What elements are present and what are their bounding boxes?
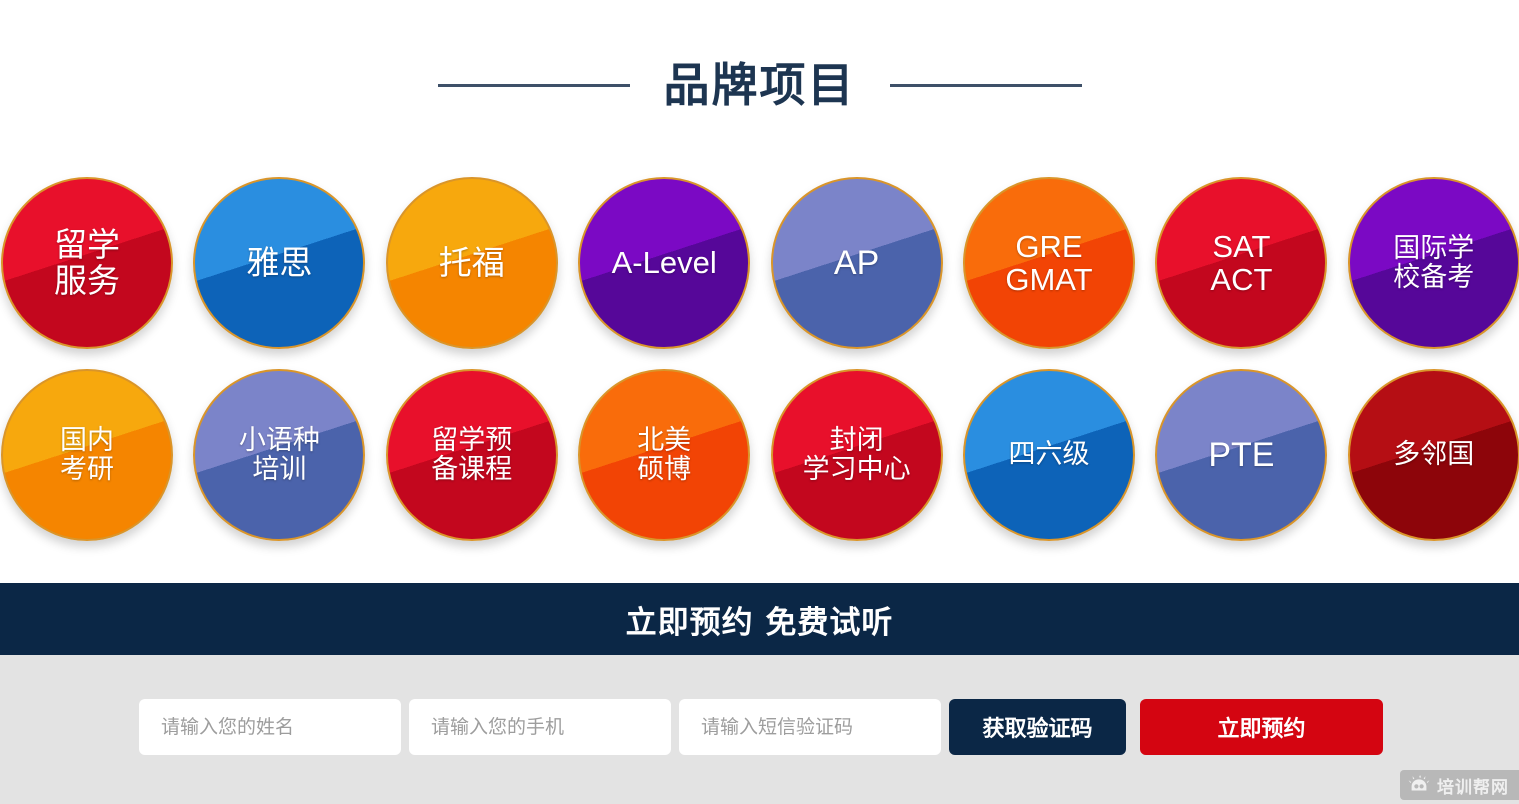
program-bubble[interactable]: 托福 xyxy=(386,177,558,349)
page-title-block: 品牌项目 xyxy=(0,62,1519,108)
program-bubble[interactable]: 留学预 备课程 xyxy=(386,369,558,541)
program-bubble[interactable]: 北美 硕博 xyxy=(578,369,750,541)
cta-banner-text: 立即预约 免费试听 xyxy=(626,597,894,642)
program-bubble[interactable]: 雅思 xyxy=(193,177,365,349)
program-bubble-label: AP xyxy=(826,245,887,282)
program-bubble-label: 留学 服务 xyxy=(46,227,128,298)
get-code-button[interactable]: 获取验证码 xyxy=(949,699,1126,755)
program-bubble-label: PTE xyxy=(1200,437,1282,474)
program-bubble[interactable]: SAT ACT xyxy=(1155,177,1327,349)
program-bubble-label: 国际学 校备考 xyxy=(1385,234,1482,292)
sun-face-icon xyxy=(1408,775,1430,795)
program-bubble-label: 小语种 培训 xyxy=(231,426,328,484)
program-row-2: 国内 考研小语种 培训留学预 备课程北美 硕博封闭 学习中心四六级PTE多邻国 xyxy=(0,369,1519,561)
program-bubble[interactable]: 封闭 学习中心 xyxy=(771,369,943,541)
program-bubble-label: 国内 考研 xyxy=(52,426,122,484)
program-bubble[interactable]: PTE xyxy=(1155,369,1327,541)
program-bubble-label: 雅思 xyxy=(238,245,320,281)
program-row-1: 留学 服务雅思托福A-LevelAPGRE GMATSAT ACT国际学 校备考 xyxy=(0,177,1519,369)
booking-form-section: 获取验证码 立即预约 xyxy=(0,655,1519,804)
program-bubble[interactable]: 四六级 xyxy=(963,369,1135,541)
program-bubble-label: 四六级 xyxy=(1001,440,1098,469)
program-bubble-label: 留学预 备课程 xyxy=(423,426,520,484)
program-bubble[interactable]: A-Level xyxy=(578,177,750,349)
booking-form: 获取验证码 立即预约 xyxy=(139,699,1383,755)
title-rule-left xyxy=(438,84,630,87)
program-bubble[interactable]: 国际学 校备考 xyxy=(1348,177,1519,349)
watermark-label: 培训帮网 xyxy=(1437,773,1509,798)
program-bubble-label: 多邻国 xyxy=(1385,440,1482,469)
program-bubble[interactable]: AP xyxy=(771,177,943,349)
program-bubble-label: 北美 硕博 xyxy=(629,426,699,484)
brand-programs-page: 品牌项目 留学 服务雅思托福A-LevelAPGRE GMATSAT ACT国际… xyxy=(0,0,1519,804)
program-bubble[interactable]: 多邻国 xyxy=(1348,369,1519,541)
title-rule-right xyxy=(890,84,1082,87)
program-bubble[interactable]: 留学 服务 xyxy=(1,177,173,349)
program-bubble[interactable]: 小语种 培训 xyxy=(193,369,365,541)
program-bubble-label: GRE GMAT xyxy=(997,230,1100,297)
program-grid: 留学 服务雅思托福A-LevelAPGRE GMATSAT ACT国际学 校备考… xyxy=(0,177,1519,561)
program-bubble-label: 封闭 学习中心 xyxy=(795,426,919,484)
program-bubble-label: 托福 xyxy=(431,245,513,281)
program-bubble[interactable]: GRE GMAT xyxy=(963,177,1135,349)
program-bubble-label: SAT ACT xyxy=(1202,230,1280,297)
sms-code-input[interactable] xyxy=(679,699,941,755)
site-watermark: 培训帮网 xyxy=(1400,770,1519,800)
cta-banner: 立即预约 免费试听 xyxy=(0,583,1519,655)
submit-booking-button[interactable]: 立即预约 xyxy=(1140,699,1383,755)
page-title: 品牌项目 xyxy=(664,62,856,108)
phone-input[interactable] xyxy=(409,699,671,755)
name-input[interactable] xyxy=(139,699,401,755)
program-bubble[interactable]: 国内 考研 xyxy=(1,369,173,541)
program-bubble-label: A-Level xyxy=(604,246,725,279)
